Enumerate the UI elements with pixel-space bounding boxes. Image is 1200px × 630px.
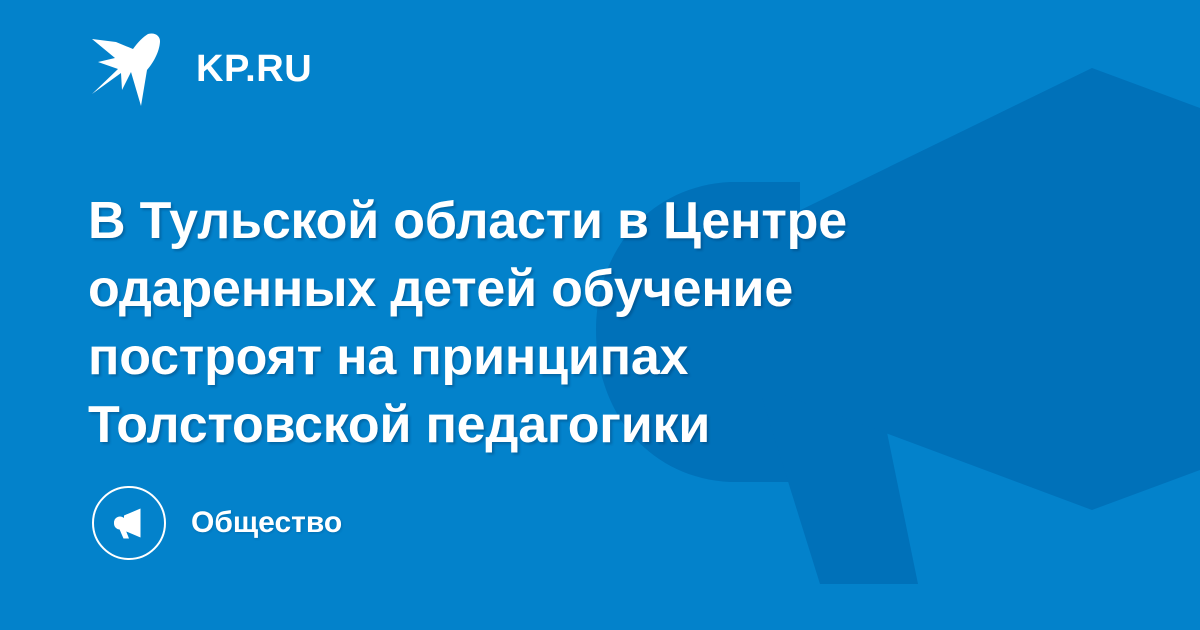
megaphone-icon — [92, 486, 166, 560]
headline-line: В Тульской области в Центре — [88, 187, 988, 255]
category-label: Общество — [191, 508, 342, 538]
category-badge[interactable]: Общество — [92, 486, 342, 560]
news-share-card: KP.RU В Тульской области в Центре одарен… — [0, 0, 1200, 630]
headline-line: Толстовской педагогики — [88, 391, 988, 459]
brand-header[interactable]: KP.RU — [88, 28, 312, 110]
page-title: В Тульской области в Центре одаренных де… — [88, 187, 988, 459]
brand-name: KP.RU — [196, 50, 312, 88]
headline-line: построят на принципах — [88, 323, 988, 391]
swallow-bird-icon — [88, 28, 174, 110]
headline-line: одаренных детей обучение — [88, 255, 988, 323]
